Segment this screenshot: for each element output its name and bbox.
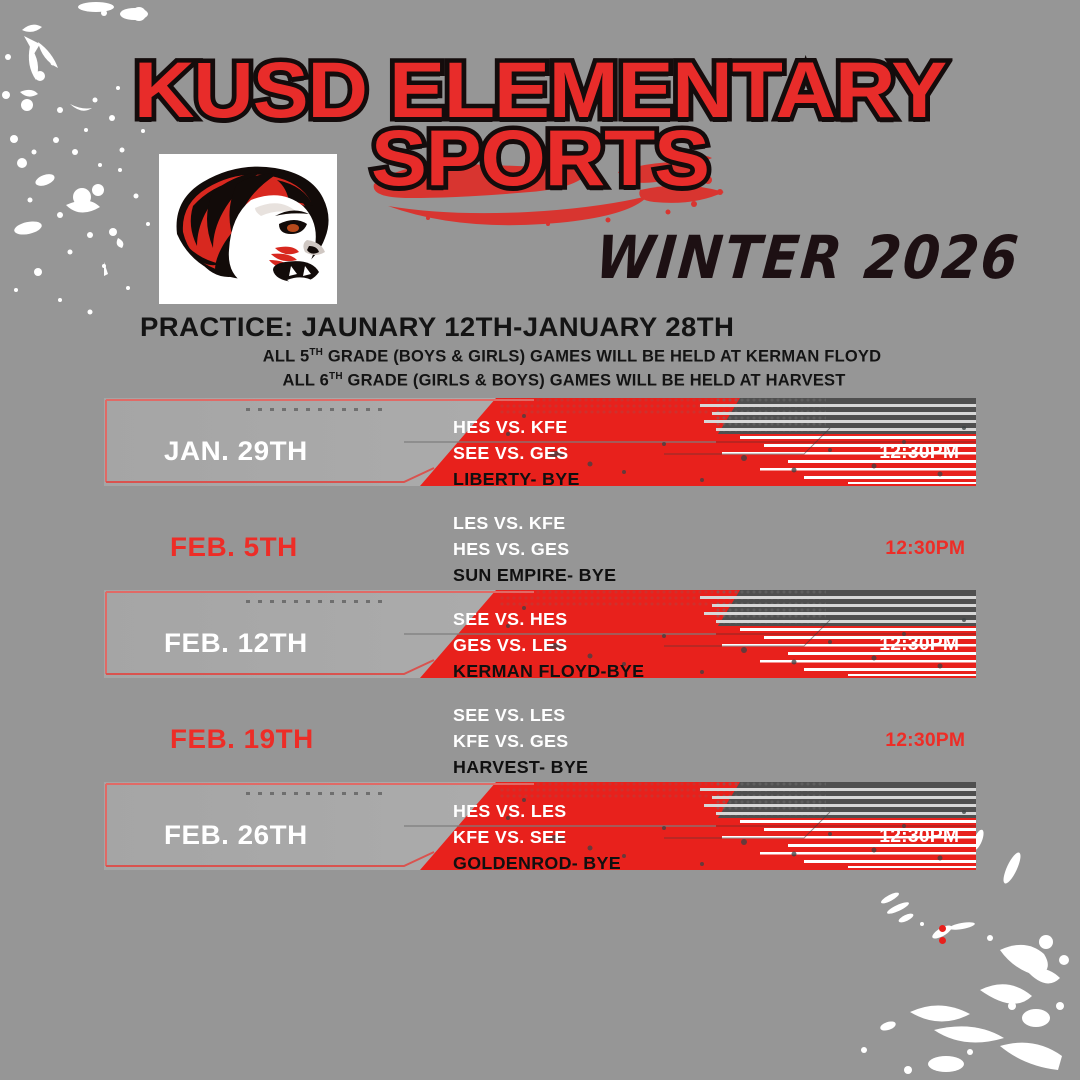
row-time: 12:30PM bbox=[879, 442, 959, 464]
matchup: GES VS. LES bbox=[453, 637, 567, 655]
matchup: KFE VS. GES bbox=[453, 733, 568, 751]
matchup: SUN EMPIRE- BYE bbox=[453, 567, 616, 585]
matchup: LES VS. KFE bbox=[453, 515, 565, 533]
red-dot-accent-2 bbox=[939, 937, 946, 944]
note2-ordinal: TH bbox=[329, 371, 343, 382]
matchup: HARVEST- BYE bbox=[453, 759, 588, 777]
poster-canvas: KUSD ELEMENTARY SPORTS bbox=[0, 0, 1080, 1080]
note1-prefix: ALL 5 bbox=[263, 348, 310, 366]
schedule-row: FEB. 5THLES VS. KFEHES VS. GESSUN EMPIRE… bbox=[0, 494, 1080, 590]
matchup: KERMAN FLOYD-BYE bbox=[453, 663, 644, 681]
matchup: LIBERTY- BYE bbox=[453, 471, 580, 489]
row-time: 12:30PM bbox=[885, 538, 965, 560]
schedule-row: FEB. 19THSEE VS. LESKFE VS. GESHARVEST- … bbox=[0, 686, 1080, 782]
row-date: FEB. 12TH bbox=[164, 628, 308, 659]
row-date: FEB. 19TH bbox=[170, 724, 314, 755]
matchup: GOLDENROD- BYE bbox=[453, 855, 621, 873]
note2-prefix: ALL 6 bbox=[282, 372, 329, 390]
matchup: SEE VS. LES bbox=[453, 707, 566, 725]
matchup: KFE VS. SEE bbox=[453, 829, 566, 847]
schedule-row: FEB. 12THSEE VS. HESGES VS. LESKERMAN FL… bbox=[0, 590, 1080, 686]
matchup: HES VS. LES bbox=[453, 803, 566, 821]
row-date: JAN. 29TH bbox=[164, 436, 308, 467]
practice-dates: PRACTICE: JAUNARY 12TH-JANUARY 28TH bbox=[140, 312, 734, 343]
grade5-location-note: ALL 5TH GRADE (BOYS & GIRLS) GAMES WILL … bbox=[0, 347, 1080, 367]
row-date: FEB. 5TH bbox=[170, 532, 298, 563]
note2-rest: GRADE (GIRLS & BOYS) GAMES WILL BE HELD … bbox=[343, 372, 846, 390]
schedule-row: FEB. 26THHES VS. LESKFE VS. SEEGOLDENROD… bbox=[0, 782, 1080, 878]
row-time: 12:30PM bbox=[885, 730, 965, 752]
lion-mascot-logo bbox=[159, 154, 337, 304]
note1-rest: GRADE (BOYS & GIRLS) GAMES WILL BE HELD … bbox=[323, 348, 881, 366]
red-dot-accent-1 bbox=[939, 925, 946, 932]
schedule-list: JAN. 29THHES VS. KFESEE VS. GESLIBERTY- … bbox=[0, 398, 1080, 878]
matchup: SEE VS. HES bbox=[453, 611, 567, 629]
grade6-location-note: ALL 6TH GRADE (GIRLS & BOYS) GAMES WILL … bbox=[0, 371, 1080, 391]
matchup: HES VS. GES bbox=[453, 541, 569, 559]
note1-ordinal: TH bbox=[309, 347, 323, 358]
schedule-row: JAN. 29THHES VS. KFESEE VS. GESLIBERTY- … bbox=[0, 398, 1080, 494]
row-time: 12:30PM bbox=[879, 634, 959, 656]
season-label: WINTER 2026 bbox=[593, 224, 1023, 292]
row-date: FEB. 26TH bbox=[164, 820, 308, 851]
matchup: HES VS. KFE bbox=[453, 419, 567, 437]
matchup: SEE VS. GES bbox=[453, 445, 568, 463]
row-time: 12:30PM bbox=[879, 826, 959, 848]
